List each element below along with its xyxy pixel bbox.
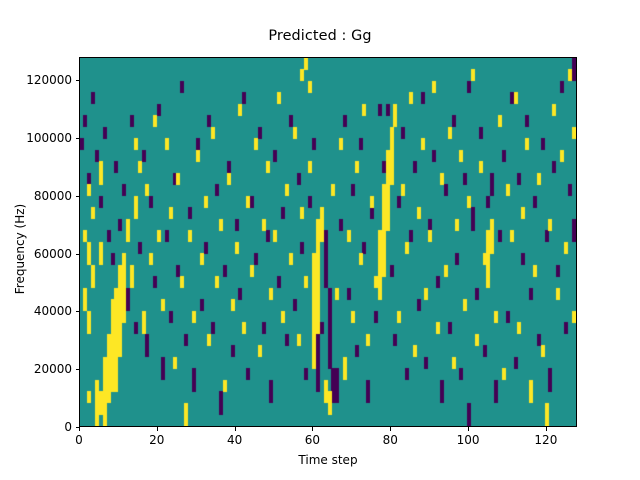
- x-tick-label: 60: [305, 433, 320, 447]
- y-tick-mark: [76, 196, 80, 197]
- heatmap-image: [80, 58, 576, 426]
- x-tick-label: 100: [457, 433, 480, 447]
- y-tick-mark: [76, 80, 80, 81]
- x-tick-label: 20: [149, 433, 164, 447]
- y-tick-mark: [76, 254, 80, 255]
- y-axis-label: Frequency (Hz): [13, 149, 27, 349]
- x-tick-mark: [79, 427, 80, 431]
- y-tick-label: 40000: [34, 304, 72, 318]
- y-tick-mark: [76, 138, 80, 139]
- y-tick-label: 80000: [34, 189, 72, 203]
- figure-canvas: Predicted : Gg 020406080100120 020000400…: [0, 0, 640, 480]
- x-tick-mark: [546, 427, 547, 431]
- y-tick-label: 60000: [34, 247, 72, 261]
- x-tick-mark: [468, 427, 469, 431]
- x-tick-label: 120: [534, 433, 557, 447]
- x-tick-label: 80: [383, 433, 398, 447]
- x-tick-label: 40: [227, 433, 242, 447]
- x-tick-mark: [235, 427, 236, 431]
- x-tick-mark: [312, 427, 313, 431]
- y-tick-mark: [76, 427, 80, 428]
- y-tick-label: 20000: [34, 362, 72, 376]
- x-tick-mark: [390, 427, 391, 431]
- heatmap-plot-area[interactable]: [79, 57, 577, 427]
- y-tick-mark: [76, 369, 80, 370]
- x-axis-label: Time step: [79, 453, 577, 467]
- x-tick-label: 0: [75, 433, 83, 447]
- page-title: Predicted : Gg: [0, 28, 640, 44]
- y-tick-label: 0: [64, 420, 72, 434]
- y-tick-label: 120000: [26, 73, 72, 87]
- x-tick-mark: [157, 427, 158, 431]
- y-tick-label: 100000: [26, 131, 72, 145]
- y-tick-mark: [76, 311, 80, 312]
